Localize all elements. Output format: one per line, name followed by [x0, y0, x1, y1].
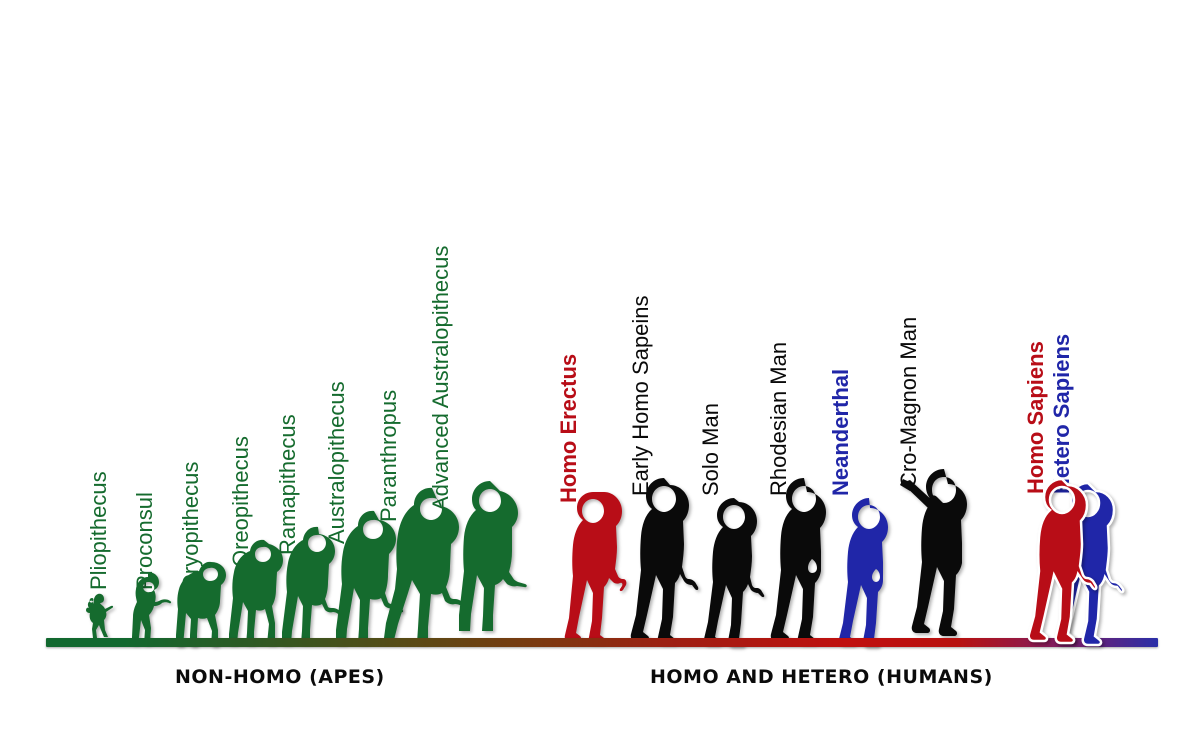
evolution-chart: Pliopithecus Proconsul Dryopithecus Oreo… [0, 0, 1200, 738]
species-label-solo-man: Solo Man [700, 403, 722, 496]
species-label-pliopithecus: Pliopithecus [88, 471, 110, 590]
figure-solo-man [702, 496, 764, 646]
species-label-early-homo-sapiens: Early Homo Sapeins [630, 295, 652, 496]
species-label-homo-sapiens: Homo Sapiens [1025, 341, 1047, 494]
figure-early-homo-sapiens [630, 476, 696, 646]
figure-rhodesian-man [770, 476, 836, 646]
figure-paranthropus [386, 484, 460, 646]
species-label-homo-erectus: Homo Erectus [558, 354, 580, 503]
figure-oreopithecus [222, 534, 284, 646]
caption-homo-and-hetero-humans: HOMO AND HETERO (HUMANS) [650, 666, 993, 688]
figure-cro-magnon-man [898, 466, 988, 646]
figure-advanced-australopithecus [450, 478, 522, 646]
species-label-hetero-sapiens: Hetero Sapiens [1051, 334, 1073, 494]
figure-homo-sapiens [1028, 476, 1094, 646]
species-label-cro-magnon-man: Cro-Magnon Man [898, 317, 920, 488]
figure-neanderthal [838, 496, 896, 646]
caption-non-homo-apes: NON-HOMO (APES) [175, 666, 385, 688]
species-label-rhodesian-man: Rhodesian Man [768, 342, 790, 496]
figure-homo-erectus [560, 490, 622, 646]
species-label-advanced-australopithecus: Advanced Australopithecus [430, 246, 452, 511]
timeline-ground-line [46, 638, 1158, 647]
